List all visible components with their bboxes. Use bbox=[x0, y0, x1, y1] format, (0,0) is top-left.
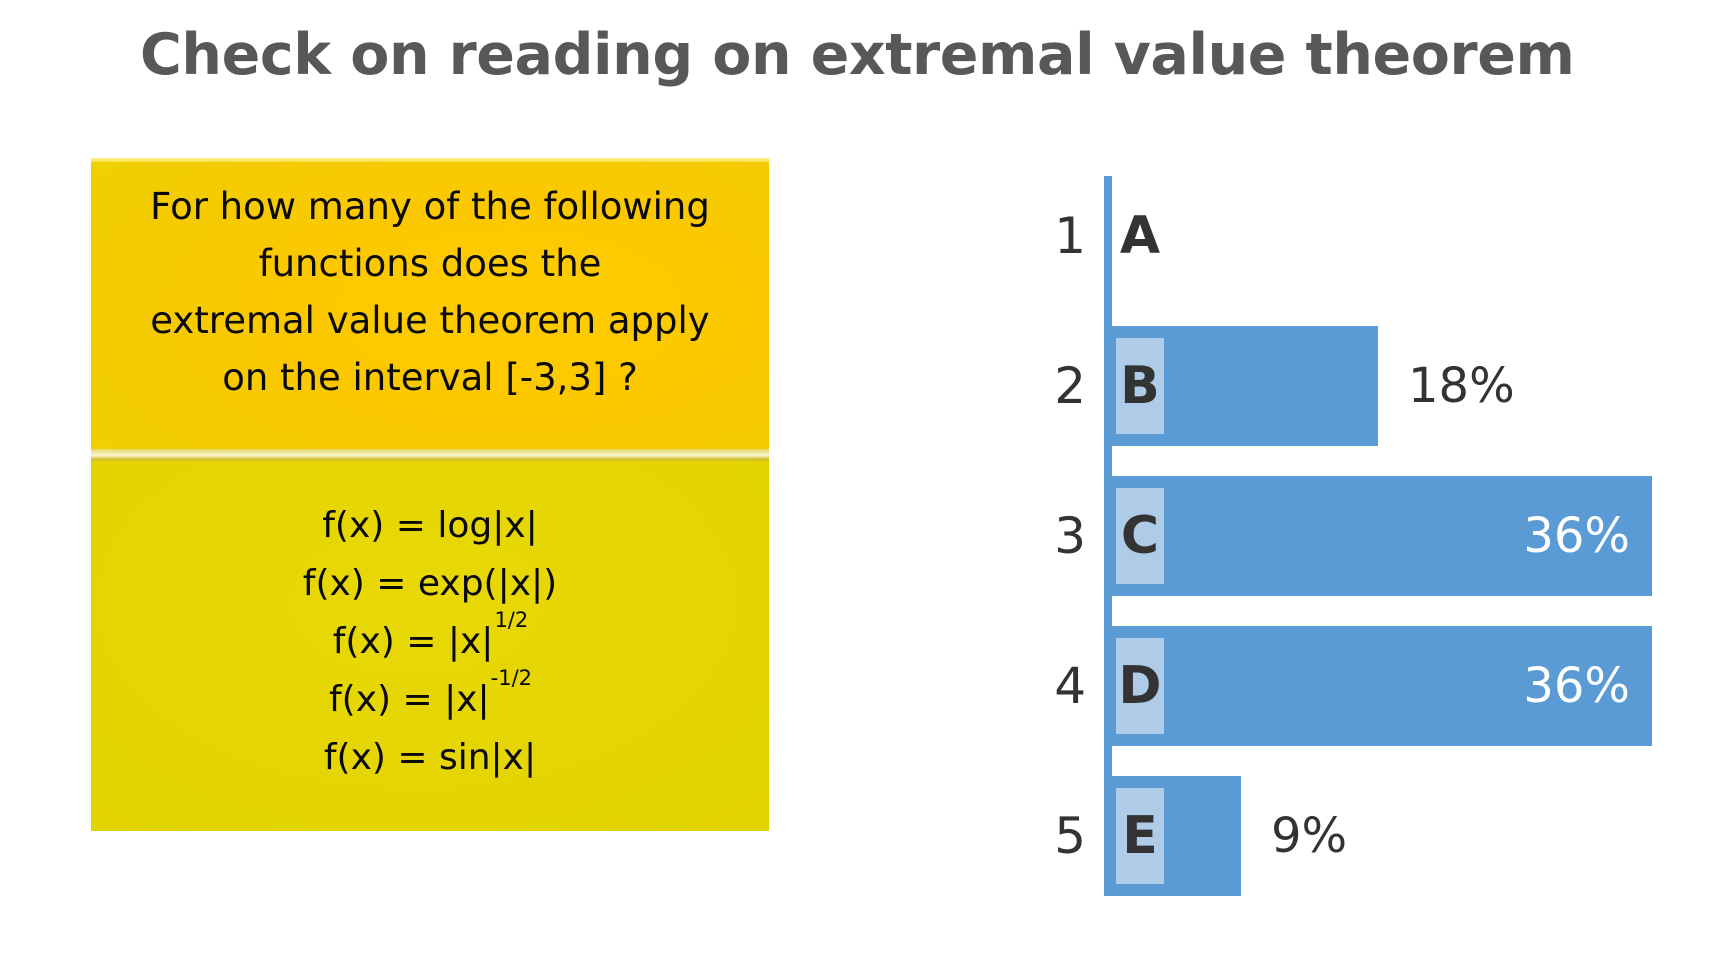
card-divider bbox=[91, 449, 769, 461]
formula-base: f(x) = |x| bbox=[329, 679, 490, 720]
chart-value-label: 36% bbox=[1104, 626, 1630, 746]
chart-row: 5E9% bbox=[940, 776, 1713, 896]
card-top-highlight bbox=[91, 158, 769, 162]
formula-item: f(x) = log|x| bbox=[91, 497, 769, 555]
chart-row-index: 3 bbox=[940, 476, 1086, 596]
chart-row: 2B18% bbox=[940, 326, 1713, 446]
chart-value-label: 36% bbox=[1104, 476, 1630, 596]
chart-option-letter: B bbox=[1116, 326, 1164, 446]
chart-row: 3C36% bbox=[940, 476, 1713, 596]
question-card: For how many of the following functions … bbox=[91, 158, 769, 831]
results-bar-chart: 1A2B18%3C36%4D36%5E9% bbox=[940, 176, 1713, 898]
formula-base: f(x) = sin|x| bbox=[324, 737, 536, 778]
chart-row-index: 5 bbox=[940, 776, 1086, 896]
page-title: Check on reading on extremal value theor… bbox=[140, 22, 1713, 88]
formula-base: f(x) = exp(|x|) bbox=[303, 563, 557, 604]
question-text: For how many of the following functions … bbox=[99, 178, 761, 406]
chart-value-label: 9% bbox=[1271, 776, 1347, 896]
formula-base: f(x) = |x| bbox=[333, 621, 494, 662]
chart-row-index: 4 bbox=[940, 626, 1086, 746]
chart-value-label: 18% bbox=[1408, 326, 1515, 446]
formula-item: f(x) = exp(|x|) bbox=[91, 555, 769, 613]
chart-row: 4D36% bbox=[940, 626, 1713, 746]
chart-row: 1A bbox=[940, 176, 1713, 296]
chart-option-letter: E bbox=[1116, 776, 1164, 896]
formula-exponent: 1/2 bbox=[494, 608, 528, 632]
formula-item: f(x) = sin|x| bbox=[91, 729, 769, 787]
chart-option-letter: A bbox=[1116, 176, 1164, 296]
chart-row-index: 1 bbox=[940, 176, 1086, 296]
formula-exponent: -1/2 bbox=[491, 666, 532, 690]
question-card-header: For how many of the following functions … bbox=[91, 158, 769, 449]
formula-base: f(x) = log|x| bbox=[322, 505, 538, 546]
question-card-body: f(x) = log|x| f(x) = exp(|x|) f(x) = |x|… bbox=[91, 461, 769, 831]
formula-item: f(x) = |x|-1/2 bbox=[91, 671, 769, 729]
chart-row-index: 2 bbox=[940, 326, 1086, 446]
formula-item: f(x) = |x|1/2 bbox=[91, 613, 769, 671]
